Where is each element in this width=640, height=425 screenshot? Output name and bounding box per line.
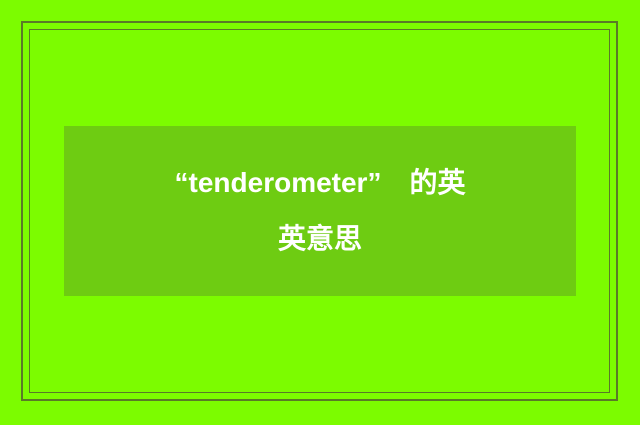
content-panel: “tenderometer” 的英英意思 bbox=[64, 126, 576, 296]
page-canvas: “tenderometer” 的英英意思 bbox=[0, 0, 640, 425]
headline-text: “tenderometer” 的英英意思 bbox=[161, 155, 479, 267]
